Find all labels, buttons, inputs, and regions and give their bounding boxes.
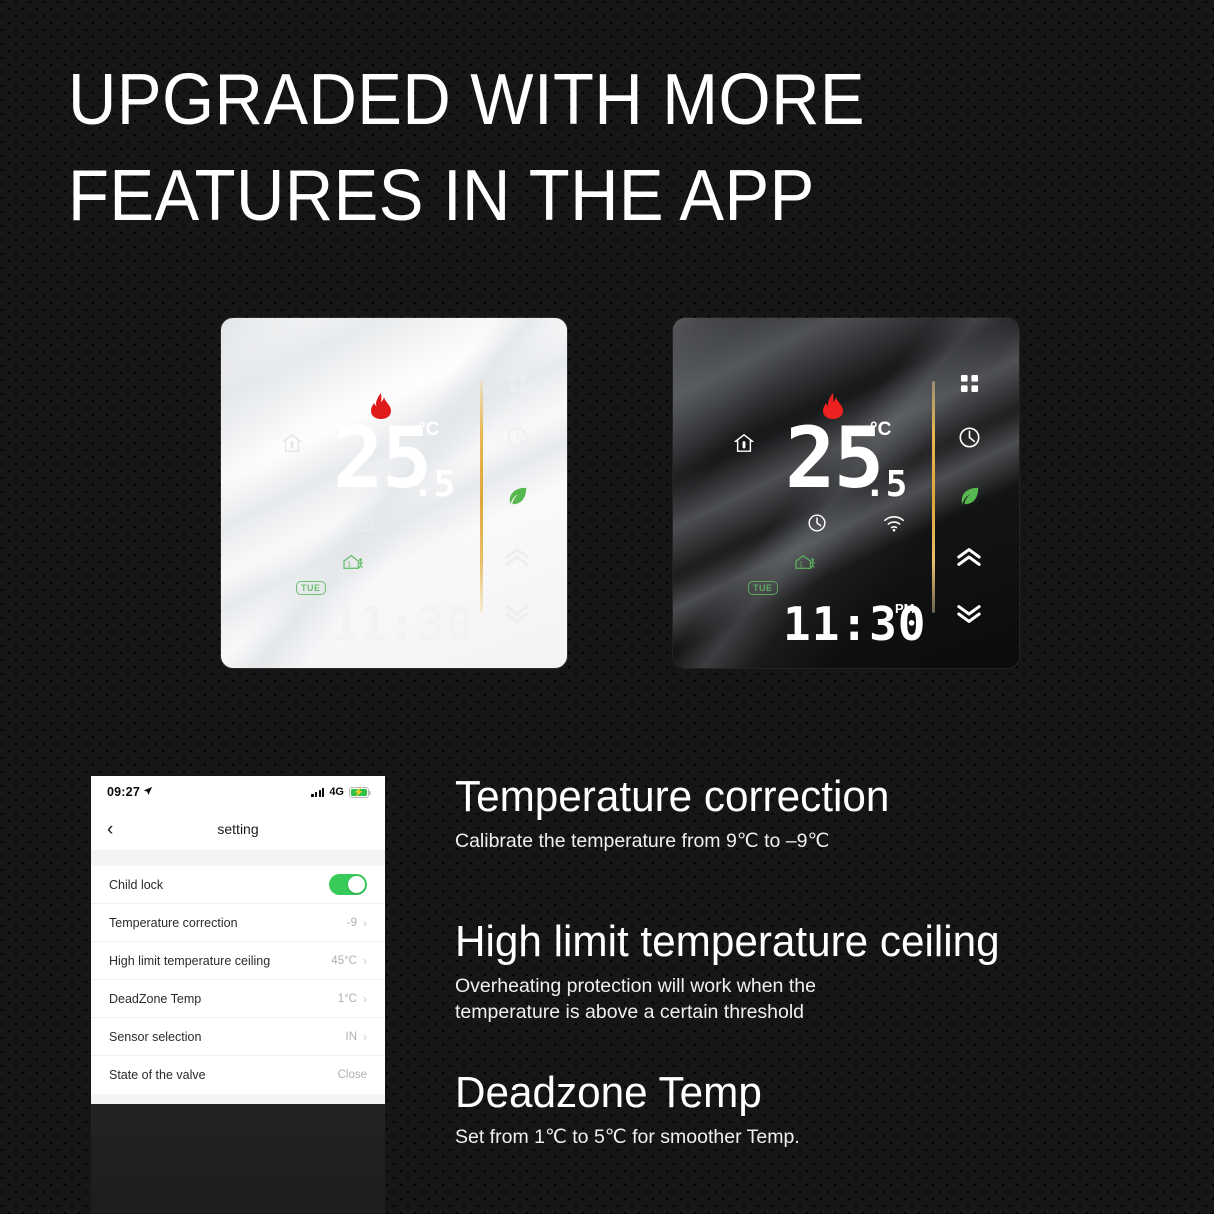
setting-value: IN [346, 1031, 358, 1043]
section-spacer [91, 850, 385, 866]
indoor-temp-icon [734, 433, 754, 458]
feature-deadzone-temp: Deadzone Temp Set from 1℃ to 5℃ for smoo… [455, 1068, 800, 1150]
chevron-right-icon: › [363, 954, 367, 968]
list-item[interactable]: Sensor selection IN › [91, 1018, 385, 1056]
svg-text:1: 1 [799, 560, 803, 569]
phone-nav-bar: ‹ setting [91, 808, 385, 850]
eco-leaf-icon[interactable] [507, 485, 529, 512]
page-title: UPGRADED WITH MORE FEATURES IN THE APP [68, 52, 998, 244]
chevron-right-icon: › [363, 992, 367, 1006]
feature-high-limit-temperature-ceiling: High limit temperature ceiling Overheati… [455, 917, 1022, 1025]
grid-menu-icon[interactable] [508, 374, 527, 398]
setting-value: Close [338, 1069, 367, 1081]
setting-value-group: Close [338, 1069, 367, 1081]
feature-temperature-correction: Temperature correction Calibrate the tem… [455, 772, 907, 854]
toggle-knob [348, 876, 365, 893]
network-type-label: 4G [329, 786, 344, 798]
child-lock-toggle[interactable] [329, 874, 367, 895]
status-bar-time-group: 09:27 [107, 785, 153, 799]
temperature-decimal: .5 [412, 464, 455, 505]
chevron-left-icon[interactable]: ‹ [107, 820, 113, 839]
clock-icon[interactable] [958, 426, 981, 454]
timer-icon [807, 513, 827, 538]
white-thermostat: 25 .5 °C 1 TUE 11:30 PM [221, 318, 567, 668]
chevron-right-icon: › [363, 916, 367, 930]
temperature-decimal: .5 [864, 464, 907, 505]
chevron-up-icon[interactable] [956, 546, 982, 573]
indoor-temp-icon [282, 433, 302, 458]
feature-description: Calibrate the temperature from 9℃ to –9℃ [455, 828, 907, 854]
chevron-right-icon: › [363, 1030, 367, 1044]
feature-description: Set from 1℃ to 5℃ for smoother Temp. [455, 1124, 800, 1150]
signal-bars-icon [311, 787, 324, 797]
setting-label: Sensor selection [109, 1030, 201, 1044]
list-item[interactable]: Temperature correction -9 › [91, 904, 385, 942]
grid-menu-icon[interactable] [960, 374, 979, 398]
feature-description: Overheating protection will work when th… [455, 973, 1022, 1025]
list-item[interactable]: High limit temperature ceiling 45°C › [91, 942, 385, 980]
setting-label: DeadZone Temp [109, 992, 201, 1006]
home-away-icon: 1 [341, 553, 365, 576]
setting-value-group: IN › [346, 1030, 368, 1044]
temperature-slider[interactable] [480, 381, 483, 613]
setting-label: State of the valve [109, 1068, 206, 1082]
temperature-slider[interactable] [932, 381, 935, 613]
setting-value: -9 [347, 917, 357, 929]
day-badge: TUE [748, 581, 778, 595]
phone-page-title: setting [91, 821, 385, 837]
feature-title: Deadzone Temp [455, 1068, 786, 1118]
status-bar-indicators: 4G ⚡ [311, 786, 369, 798]
feature-title: Temperature correction [455, 772, 889, 822]
setting-label: High limit temperature ceiling [109, 954, 270, 968]
setting-value-group: 45°C › [331, 954, 367, 968]
setting-label: Temperature correction [109, 916, 238, 930]
list-item[interactable]: Child lock [91, 866, 385, 904]
feature-title: High limit temperature ceiling [455, 917, 1000, 967]
chevron-down-icon[interactable] [956, 603, 982, 630]
temperature-unit: °C [418, 419, 439, 441]
setting-value-group: 1°C › [338, 992, 367, 1006]
svg-text:1: 1 [347, 560, 351, 569]
setting-value: 45°C [331, 955, 357, 967]
list-item[interactable]: DeadZone Temp 1°C › [91, 980, 385, 1018]
wifi-icon [431, 515, 453, 537]
chevron-up-icon[interactable] [504, 546, 530, 573]
status-bar-time: 09:27 [107, 785, 140, 799]
wifi-icon [883, 515, 905, 537]
temperature-unit: °C [870, 419, 891, 441]
chevron-down-icon[interactable] [504, 603, 530, 630]
day-badge: TUE [296, 581, 326, 595]
meridiem-label: PM [895, 601, 915, 616]
setting-value-group: -9 › [347, 916, 367, 930]
eco-leaf-icon[interactable] [959, 485, 981, 512]
location-arrow-icon [143, 785, 153, 799]
phone-status-bar: 09:27 4G ⚡ [91, 776, 385, 808]
phone-lower-panel [91, 1104, 385, 1214]
list-item[interactable]: State of the valve Close [91, 1056, 385, 1094]
home-away-icon: 1 [793, 553, 817, 576]
setting-label: Child lock [109, 878, 163, 892]
clock-icon[interactable] [506, 426, 529, 454]
setting-value: 1°C [338, 993, 357, 1005]
battery-charging-icon: ⚡ [349, 787, 369, 798]
timer-icon [355, 513, 375, 538]
meridiem-label: PM [443, 601, 463, 616]
black-thermostat: 25 .5 °C 1 TUE 11:30 PM [673, 318, 1019, 668]
